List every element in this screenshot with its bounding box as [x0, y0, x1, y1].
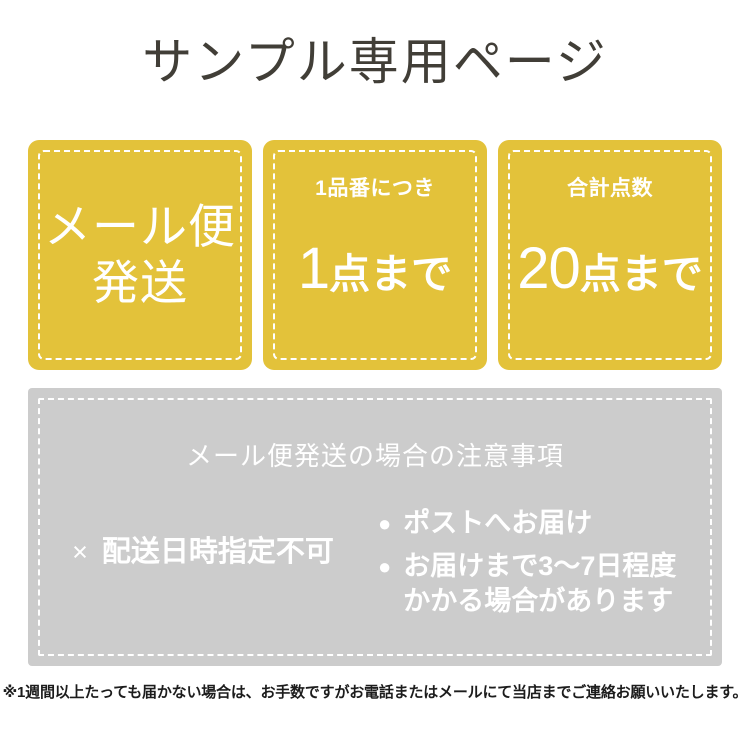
per-item-limit-unit: 点まで: [329, 245, 452, 303]
notice-restriction: ×配送日時指定不可: [28, 506, 378, 570]
per-item-limit-caption: 1品番につき: [315, 176, 435, 202]
total-limit-value: 20 点まで: [517, 240, 703, 303]
notice-heading: メール便発送の場合の注意事項: [28, 440, 722, 472]
sample-page-banner: サンプル専用ページ メール便 発送 1品番につき 1 点まで 合計点数: [0, 0, 750, 750]
feature-box-content: メール便 発送: [28, 140, 252, 370]
notice-panel: メール便発送の場合の注意事項 ×配送日時指定不可 ● ポストへお届け ● お届け…: [28, 388, 722, 666]
total-limit-number: 20: [517, 240, 580, 298]
feature-box-shipping-method: メール便 発送: [28, 140, 252, 370]
total-limit-caption: 合計点数: [567, 176, 653, 202]
per-item-limit-value: 1 点まで: [298, 240, 452, 303]
feature-box-total-limit: 合計点数 20 点まで: [498, 140, 722, 370]
bullet-dot-icon: ●: [378, 549, 391, 584]
notice-body: ×配送日時指定不可 ● ポストへお届け ● お届けまで3〜7日程度 かかる場合が…: [28, 506, 722, 646]
feature-box-content: 合計点数 20 点まで: [498, 140, 722, 370]
shipping-method-line-2: 発送: [92, 255, 188, 311]
list-item: ● ポストへお届け: [378, 506, 722, 541]
bullet-text: お届けまで3〜7日程度 かかる場合があります: [403, 549, 722, 619]
page-title: サンプル専用ページ: [0, 32, 750, 92]
bullet-text: ポストへお届け: [403, 506, 722, 541]
feature-box-content: 1品番につき 1 点まで: [263, 140, 487, 370]
cross-icon: ×: [72, 537, 88, 567]
bullet-dot-icon: ●: [378, 506, 391, 541]
shipping-method-line-1: メール便: [44, 199, 236, 255]
notice-bullet-list: ● ポストへお届け ● お届けまで3〜7日程度 かかる場合があります: [378, 506, 722, 627]
per-item-limit-number: 1: [298, 240, 329, 298]
feature-box-per-item-limit: 1品番につき 1 点まで: [263, 140, 487, 370]
footer-note: ※1週間以上たっても届かない場合は、お手数ですがお電話またはメールにて当店までご…: [0, 682, 750, 704]
feature-box-row: メール便 発送 1品番につき 1 点まで 合計点数 20 点まで: [28, 140, 722, 370]
list-item: ● お届けまで3〜7日程度 かかる場合があります: [378, 549, 722, 619]
total-limit-unit: 点まで: [580, 245, 703, 303]
notice-restriction-label: 配送日時指定不可: [102, 536, 334, 568]
